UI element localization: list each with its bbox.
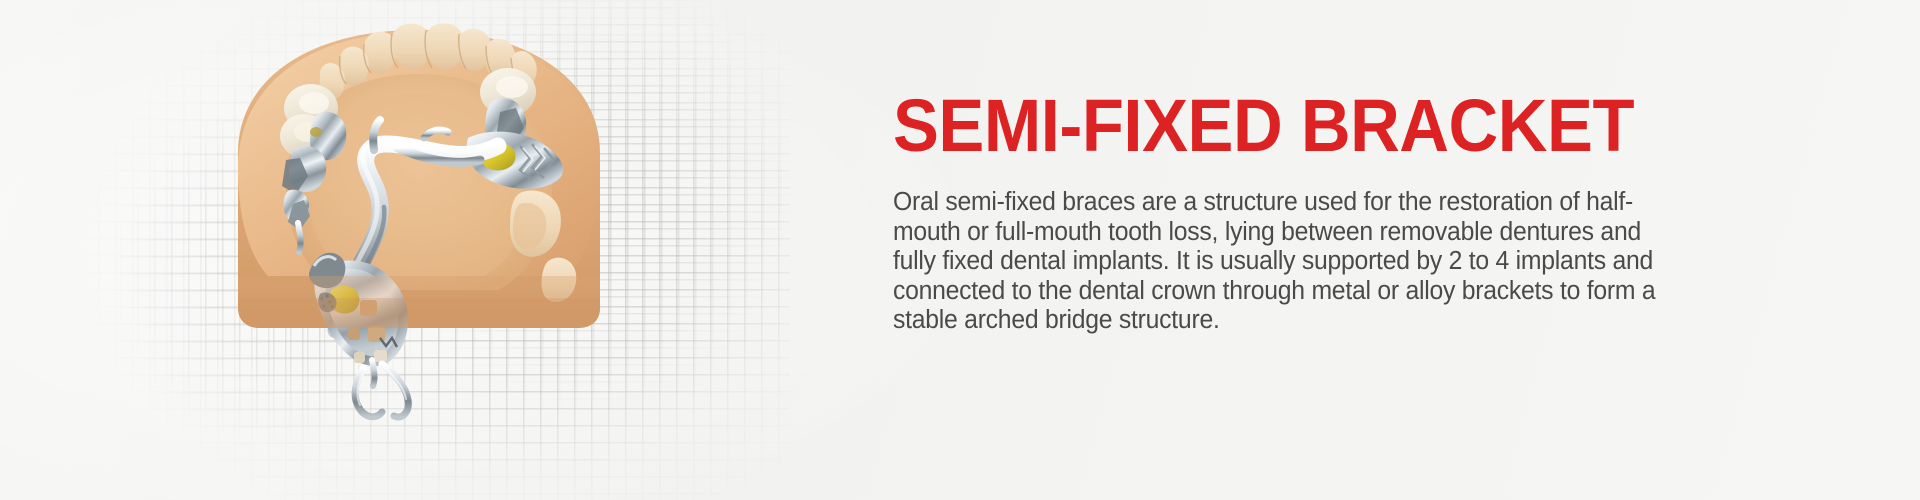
page-title: SEMI-FIXED BRACKET — [893, 86, 1758, 166]
product-description: Oral semi-fixed braces are a structure u… — [893, 188, 1669, 336]
dental-model-photo — [168, 8, 668, 428]
text-column: SEMI-FIXED BRACKET Oral semi-fixed brace… — [893, 86, 1823, 336]
product-banner: SEMI-FIXED BRACKET Oral semi-fixed brace… — [0, 0, 1920, 500]
retention-wire-loops — [355, 360, 408, 417]
